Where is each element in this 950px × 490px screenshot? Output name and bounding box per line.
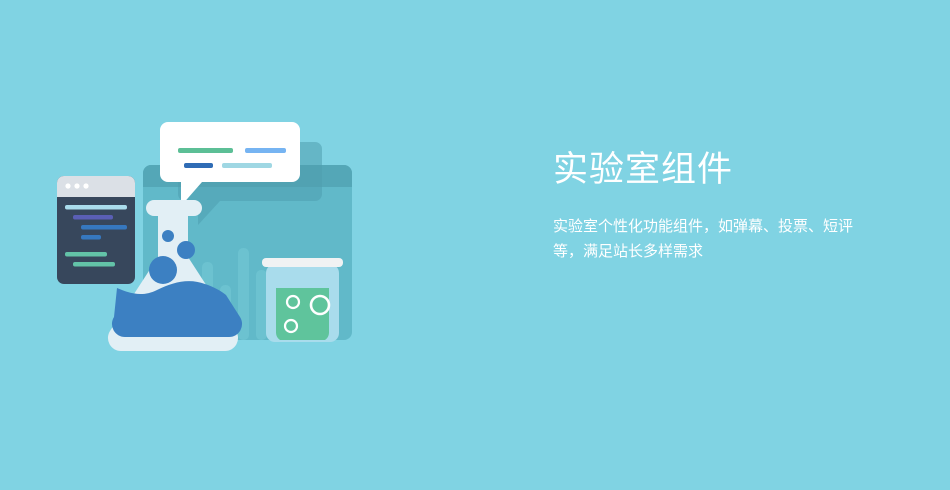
dot-close-icon (65, 183, 70, 188)
dot-maximize-icon (83, 183, 88, 188)
banner-text-block: 实验室组件 实验室个性化功能组件，如弹幕、投票、短评等，满足站长多样需求 (553, 148, 893, 264)
lab-components-banner: 实验室组件 实验室个性化功能组件，如弹幕、投票、短评等，满足站长多样需求 (0, 0, 950, 490)
laboratory-components-illustration (0, 0, 430, 490)
dot-minimize-icon (74, 183, 79, 188)
beaker-rim (262, 258, 343, 267)
beaker (262, 258, 343, 342)
page-subtitle: 实验室个性化功能组件，如弹幕、投票、短评等，满足站长多样需求 (553, 214, 853, 264)
code-editor-window (57, 176, 135, 284)
page-title: 实验室组件 (553, 148, 893, 192)
window-dots (65, 183, 88, 188)
flask-neck-cap (146, 200, 202, 216)
